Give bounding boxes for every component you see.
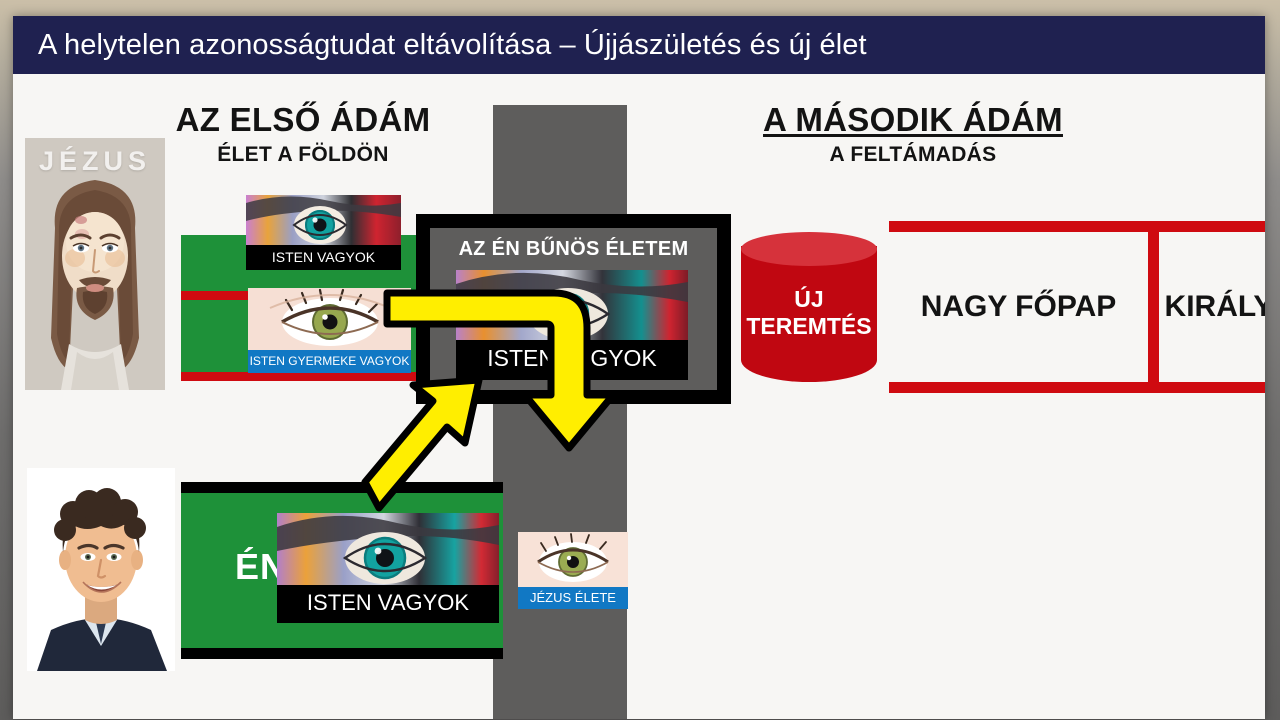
first-adam-heading-block: AZ ELSŐ ÁDÁM ÉLET A FÖLDÖN [153,102,453,167]
eye-tile-isten-vagyok-top: ISTEN VAGYOK [246,195,401,270]
roles-frame-top-rule [889,221,1265,232]
roles-frame: NAGY FŐPAP KIRÁLY [889,221,1265,393]
colorful-eye-icon [456,270,688,340]
colorful-eye-icon [277,513,499,585]
black-rule-top [181,482,503,493]
eye-tile-isten-gyermeke-vagyok: ISTEN GYERMEKE VAGYOK [248,288,411,373]
jesus-portrait-card: JÉZUS [25,138,165,390]
eye-caption: ISTEN VAGYOK [277,585,499,623]
roles-frame-divider [1148,232,1159,382]
roles-frame-bottom-rule [889,382,1265,393]
jesus-label: JÉZUS [25,146,165,177]
second-adam-subtitle: A FELTÁMADÁS [703,143,1123,167]
page-title: A helytelen azonosságtudat eltávolítása … [13,29,867,62]
eye-tile-jezus-elete: JÉZUS ÉLETE [518,532,628,609]
eye-tile-sin-box: ISTEN VAGYOK [456,270,688,380]
slide-canvas: A helytelen azonosságtudat eltávolítása … [13,16,1265,719]
eye-caption: JÉZUS ÉLETE [518,587,628,609]
cross-post-column [493,105,627,719]
cylinder-label-line1: ÚJ [741,286,877,313]
eye-tile-isten-vagyok-bottom: ISTEN VAGYOK [277,513,499,623]
man-photo-icon [27,468,175,671]
cylinder-label: ÚJ TEREMTÉS [741,286,877,340]
cylinder-top [741,232,877,266]
second-adam-heading-block: A MÁSODIK ÁDÁM A FELTÁMADÁS [703,102,1123,167]
role-king: KIRÁLY [1159,232,1265,382]
colorful-eye-icon [246,195,401,245]
slide-title-bar: A helytelen azonosságtudat eltávolítása … [13,16,1265,74]
man-photo-card [27,468,175,671]
role-high-priest: NAGY FŐPAP [889,232,1148,382]
green-eye-icon [518,532,628,587]
eye-caption: ISTEN VAGYOK [456,340,688,380]
black-rule-bottom [181,648,503,659]
sinful-life-title: AZ ÉN BŰNÖS ÉLETEM [430,238,717,261]
new-creation-cylinder: ÚJ TEREMTÉS [741,232,877,396]
green-eye-icon [248,288,411,350]
cylinder-label-line2: TEREMTÉS [741,313,877,340]
second-adam-title: A MÁSODIK ÁDÁM [703,102,1123,138]
first-adam-title: AZ ELSŐ ÁDÁM [153,102,453,138]
first-adam-subtitle: ÉLET A FÖLDÖN [153,143,453,167]
eye-caption: ISTEN VAGYOK [246,245,401,270]
eye-caption: ISTEN GYERMEKE VAGYOK [248,350,411,373]
